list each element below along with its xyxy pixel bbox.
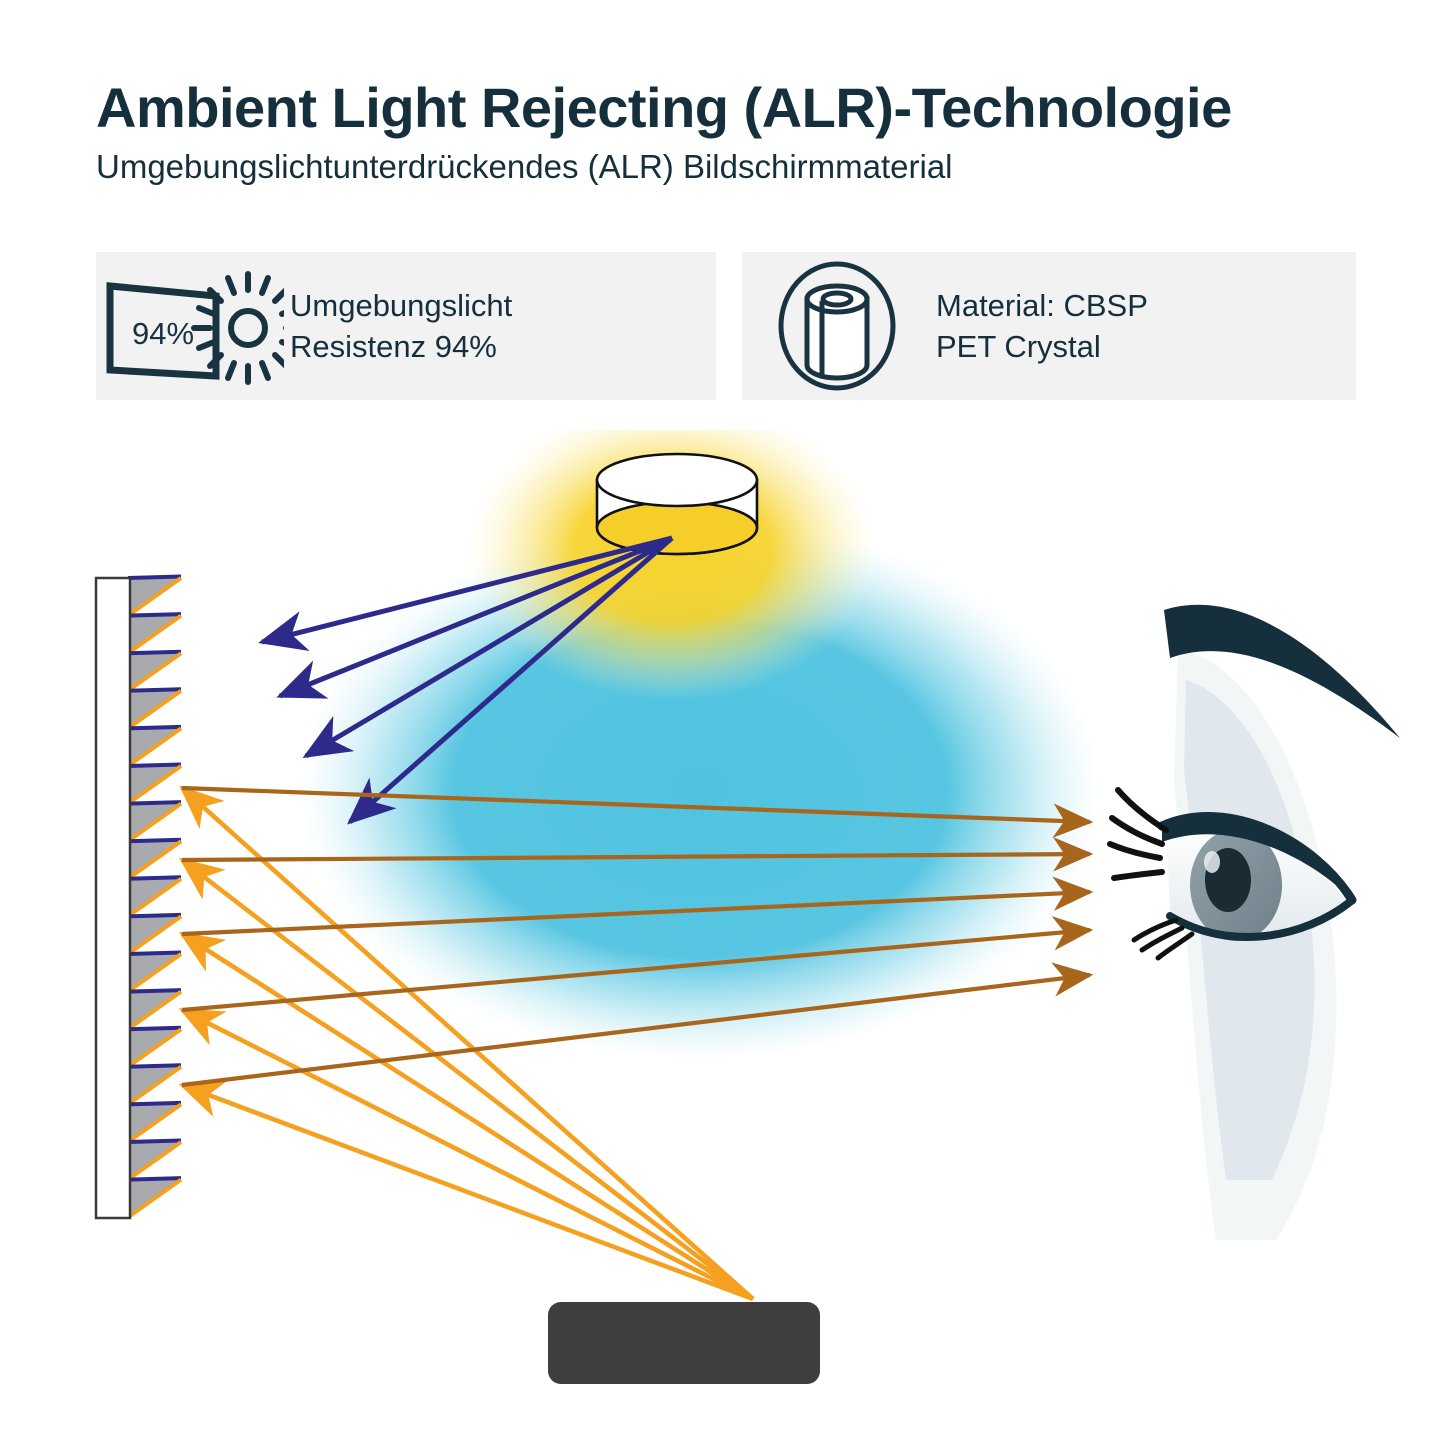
tooth-absorb-facet: [128, 1141, 181, 1143]
alr-light-path-diagram: [0, 430, 1445, 1445]
tooth-absorb-facet: [128, 990, 181, 992]
tooth-absorb-facet: [128, 577, 181, 579]
tooth-absorb-facet: [128, 765, 181, 767]
tooth-absorb-facet: [128, 1028, 181, 1030]
screen-teeth: [128, 577, 181, 1218]
projector: [548, 1302, 820, 1384]
tooth-absorb-facet: [128, 652, 181, 654]
feature-box-material: Material: CBSP PET Crystal: [742, 252, 1356, 400]
sun-icon: [194, 274, 284, 382]
tooth-absorb-facet: [128, 727, 181, 729]
tooth-absorb-facet: [128, 1178, 181, 1180]
ceiling-lamp: [597, 454, 757, 554]
feature-line-2: Resistenz 94%: [290, 326, 512, 367]
tooth-absorb-facet: [128, 877, 181, 879]
lamp-emitting-face: [597, 502, 757, 554]
tooth-absorb-facet: [128, 802, 181, 804]
screen-sun-icon: 94%: [96, 252, 286, 400]
tooth-absorb-facet: [128, 840, 181, 842]
page-title: Ambient Light Rejecting (ALR)-Technologi…: [96, 78, 1356, 137]
viewer-eye: [1110, 605, 1400, 1240]
infographic-page: Ambient Light Rejecting (ALR)-Technologi…: [0, 0, 1445, 1445]
screen-badge-value: 94%: [132, 316, 194, 351]
alr-screen-sawtooth-panel: [96, 577, 181, 1219]
feature-line-1: Material: CBSP: [936, 285, 1148, 326]
tooth-absorb-facet: [128, 1065, 181, 1067]
tooth-absorb-facet: [128, 689, 181, 691]
page-subtitle: Umgebungslichtunterdrückendes (ALR) Bild…: [96, 147, 1356, 187]
tooth-absorb-facet: [128, 953, 181, 955]
tooth-absorb-facet: [128, 614, 181, 616]
feature-text: Material: CBSP PET Crystal: [932, 285, 1148, 367]
tooth-absorb-facet: [128, 1103, 181, 1105]
header: Ambient Light Rejecting (ALR)-Technologi…: [96, 78, 1356, 187]
feature-line-2: PET Crystal: [936, 326, 1148, 367]
upper-eyelashes: [1110, 790, 1166, 878]
feature-line-1: Umgebungslicht: [290, 285, 512, 326]
tooth-absorb-facet: [128, 915, 181, 917]
feature-text: Umgebungslicht Resistenz 94%: [286, 285, 512, 367]
feature-box-ambient-light: 94%: [96, 252, 716, 400]
material-roll-icon: [742, 252, 932, 400]
screen-substrate: [96, 578, 130, 1218]
